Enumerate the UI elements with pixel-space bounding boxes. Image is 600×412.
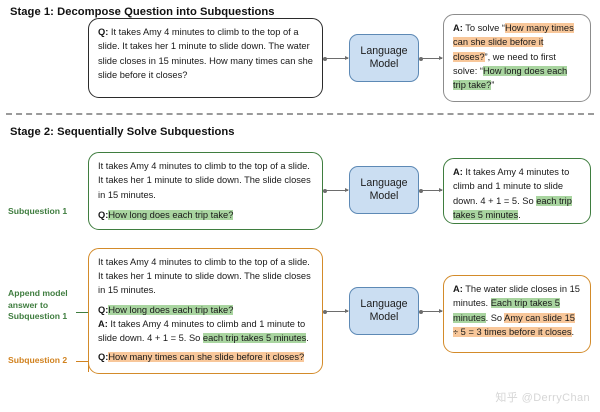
stage2-row2-language-model-box: Language Model <box>349 287 419 335</box>
row2-subquestion2-line: Q:How many times can she slide before it… <box>98 350 314 364</box>
row2-context-text: It takes Amy 4 minutes to climb to the t… <box>98 255 314 298</box>
answer-label: A: <box>453 23 463 33</box>
model-label-line1: Language <box>360 177 407 191</box>
stage2-row1-prompt-bubble: It takes Amy 4 minutes to climb to the t… <box>88 152 323 230</box>
row1-a-part2: . <box>518 210 521 220</box>
stage-divider <box>6 113 594 115</box>
arrow-model-to-answer-row2 <box>420 311 442 312</box>
row1-a-label: A: <box>453 167 463 177</box>
row2-a1-highlight: each trip takes 5 minutes <box>203 333 306 343</box>
row2-q1-highlight: How long does each trip take? <box>108 305 233 315</box>
question-text: It takes Amy 4 minutes to climb to the t… <box>98 27 313 80</box>
model-label-line2: Model <box>360 190 407 204</box>
stage1-answer-bubble: A: To solve “How many times can she slid… <box>443 14 591 102</box>
stage1-title: Stage 1: Decompose Question into Subques… <box>10 6 275 18</box>
row1-subquestion-line: Q:How long does each trip take? <box>98 208 314 222</box>
row2-a1-label: A: <box>98 319 108 329</box>
row2-q2-highlight: How many times can she slide before it c… <box>108 352 304 362</box>
row1-context-text: It takes Amy 4 minutes to climb to the t… <box>98 159 314 202</box>
row2-a-part2: . So <box>486 313 505 323</box>
stage1-question-bubble: Q: It takes Amy 4 minutes to climb to th… <box>88 18 323 98</box>
arrow-model-to-answer-row1 <box>420 190 442 191</box>
arrow-prompt-to-model-row1 <box>324 190 348 191</box>
model-label-line2: Model <box>360 58 407 72</box>
stage2-row2-prompt-bubble: It takes Amy 4 minutes to climb to the t… <box>88 248 323 374</box>
stage1-language-model-box: Language Model <box>349 34 419 82</box>
model-label-line2: Model <box>360 311 407 325</box>
arrow-prompt-to-model-row2 <box>324 311 348 312</box>
label-append-model-answer: Append model answer to Subquestion 1 <box>8 288 68 323</box>
row2-a1-part2: . <box>306 333 309 343</box>
label-subquestion-1: Subquestion 1 <box>8 206 67 218</box>
stage2-row1-answer-bubble: A: It takes Amy 4 minutes to climb and 1… <box>443 158 591 224</box>
stage2-title: Stage 2: Sequentially Solve Subquestions <box>10 126 235 138</box>
model-label-line1: Language <box>360 298 407 312</box>
label-subquestion-2: Subquestion 2 <box>8 355 67 367</box>
answer-text-part3: ” <box>491 80 494 90</box>
model-label-line1: Language <box>360 45 407 59</box>
watermark: 知乎 @DerryChan <box>495 389 590 405</box>
arrow-model-to-answer-stage1 <box>420 58 442 59</box>
row1-q-label: Q: <box>98 210 108 220</box>
row2-a-label: A: <box>453 284 463 294</box>
row2-a-part3: . <box>572 327 575 337</box>
row1-q-highlight: How long does each trip take? <box>108 210 233 220</box>
row2-subquestion1-line: Q:How long does each trip take? <box>98 303 314 317</box>
answer-text-part1: To solve “ <box>463 23 505 33</box>
row2-q2-label: Q: <box>98 352 108 362</box>
row2-q1-label: Q: <box>98 305 108 315</box>
question-label: Q: <box>98 27 108 37</box>
row2-answer1-line: A: It takes Amy 4 minutes to climb and 1… <box>98 317 314 345</box>
stage2-row2-answer-bubble: A: The water slide closes in 15 minutes.… <box>443 275 591 353</box>
stage2-row1-language-model-box: Language Model <box>349 166 419 214</box>
arrow-q-to-model-stage1 <box>324 58 348 59</box>
